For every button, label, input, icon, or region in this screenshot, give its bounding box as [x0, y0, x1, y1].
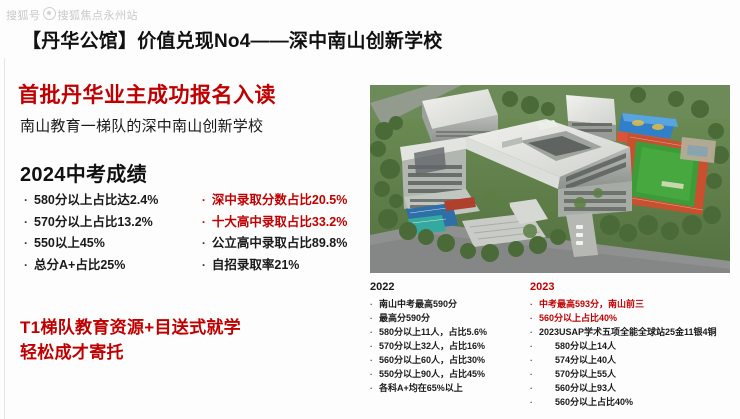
left-content-column: 首批丹华业主成功报名入读 南山教育一梯队的深中南山创新学校 2024中考成绩 ·… [18, 84, 363, 274]
bottom-slogan-line1: T1梯队教育资源+目送式就学 [20, 316, 241, 341]
bullet-dot-icon: · [530, 354, 539, 368]
list-item: · 2023USAP学术五项全能全球站25金11银4铜 [530, 326, 736, 340]
list-item: · 各科A+均在65%以上 [370, 382, 530, 396]
list-item: · 550分以上90人，占比45% [370, 368, 530, 382]
list-item: · 中考最高593分，南山前三 [530, 298, 736, 312]
bullet-dot-icon: · [530, 382, 539, 396]
list-item-label: 中考最高593分，南山前三 [539, 298, 644, 312]
list-item: · 570分以上32人，占比16% [370, 340, 530, 354]
list-item-label: 2023USAP学术五项全能全球站25金11银4铜 [539, 326, 717, 340]
list-item: · 570分以上55人 [530, 368, 736, 382]
red-headline: 首批丹华业主成功报名入读 [18, 84, 363, 108]
list-item-label: 550以上45% [34, 236, 105, 252]
year-stats-columns: 2022 · 南山中考最高590分 · 最高分590分 · 580分以上11人，… [370, 281, 736, 410]
bottom-slogan: T1梯队教育资源+目送式就学 轻松成才寄托 [20, 316, 241, 365]
bullet-dot-icon: · [24, 193, 34, 208]
score-bullet-columns: · 580分以上占比达2.4% · 570分以上占比13.2% · 550以上4… [18, 193, 363, 274]
list-item: · 580分以上14人 [530, 340, 736, 354]
bullet-dot-icon: · [370, 312, 379, 326]
list-item-label: 总分A+占比25% [34, 258, 125, 274]
list-item: · 公立高中录取占比89.8% [202, 236, 363, 252]
section-heading: 2024中考成绩 [20, 158, 363, 187]
campus-photo-illustration [370, 85, 730, 273]
list-item-label: 560分以上93人 [539, 382, 616, 396]
bullet-dot-icon: · [370, 340, 379, 354]
bullet-dot-icon: · [530, 298, 539, 312]
list-item: · 560分以上60人，占比30% [370, 354, 530, 368]
list-item-label: 560分以上60人，占比30% [379, 354, 485, 368]
list-item-label: 560分以上占比40% [539, 312, 617, 326]
sohu-logo-icon [43, 7, 56, 20]
list-item-label: 南山中考最高590分 [379, 298, 457, 312]
list-item: · 570分以上占比13.2% [24, 215, 196, 231]
list-item: · 南山中考最高590分 [370, 298, 530, 312]
list-item-label: 580分以上占比达2.4% [34, 193, 158, 209]
bullet-dot-icon: · [370, 354, 379, 368]
watermark-prefix: 搜狐号 [6, 10, 41, 22]
list-item-label: 自招录取率21% [212, 258, 300, 274]
bullet-dot-icon: · [370, 326, 379, 340]
list-item-label: 560分以上占比40% [539, 396, 633, 410]
bullet-dot-icon: · [202, 236, 212, 251]
list-item: · 560分以上占比40% [530, 312, 736, 326]
bullet-dot-icon: · [530, 312, 539, 326]
bullet-dot-icon: · [370, 382, 379, 396]
left-edge-rule [4, 58, 5, 419]
watermark: 搜狐号搜狐焦点永州站 [6, 7, 138, 23]
bullet-column-right: · 深中录取分数占比20.5% · 十大高中录取占比33.2% · 公立高中录取… [202, 193, 363, 274]
bullet-dot-icon: · [530, 326, 539, 340]
year-column-2023: 2023 · 中考最高593分，南山前三 · 560分以上占比40% · 202… [530, 281, 736, 410]
list-item-label: 570分以上32人，占比16% [379, 340, 485, 354]
list-item: · 560分以上93人 [530, 382, 736, 396]
list-item-label: 深中录取分数占比20.5% [212, 193, 347, 209]
bullet-dot-icon: · [370, 298, 379, 312]
bullet-dot-icon: · [202, 258, 212, 273]
bullet-dot-icon: · [530, 396, 539, 410]
list-item-label: 580分以上14人 [539, 340, 616, 354]
bullet-dot-icon: · [202, 215, 212, 230]
list-item-label: 最高分590分 [379, 312, 430, 326]
slide-page: 搜狐号搜狐焦点永州站 【丹华公馆】价值兑现No4——深中南山创新学校 首批丹华业… [0, 0, 740, 419]
list-item-label: 574分以上40人 [539, 354, 616, 368]
watermark-suffix: 搜狐焦点永州站 [58, 10, 139, 22]
bullet-dot-icon: · [530, 340, 539, 354]
bullet-dot-icon: · [24, 215, 34, 230]
list-item: · 十大高中录取占比33.2% [202, 215, 363, 231]
list-item: · 580分以上11人，占比5.6% [370, 326, 530, 340]
list-item-label: 580分以上11人，占比5.6% [379, 326, 487, 340]
bullet-dot-icon: · [370, 368, 379, 382]
list-item-label: 公立高中录取占比89.8% [212, 236, 347, 252]
year-title: 2022 [370, 281, 530, 293]
page-title: 【丹华公馆】价值兑现No4——深中南山创新学校 [22, 26, 443, 53]
list-item: · 深中录取分数占比20.5% [202, 193, 363, 209]
list-item: · 最高分590分 [370, 312, 530, 326]
list-item: · 550以上45% [24, 236, 196, 252]
list-item-label: 各科A+均在65%以上 [379, 382, 463, 396]
list-item-label: 十大高中录取占比33.2% [212, 215, 347, 231]
bullet-column-left: · 580分以上占比达2.4% · 570分以上占比13.2% · 550以上4… [18, 193, 196, 274]
list-item: · 自招录取率21% [202, 258, 363, 274]
bullet-dot-icon: · [24, 236, 34, 251]
bullet-dot-icon: · [202, 193, 212, 208]
bullet-dot-icon: · [24, 258, 34, 273]
year-title: 2023 [530, 281, 736, 293]
sub-headline: 南山教育一梯队的深中南山创新学校 [20, 115, 363, 136]
bottom-slogan-line2: 轻松成才寄托 [20, 341, 241, 366]
list-item: · 560分以上占比40% [530, 396, 736, 410]
list-item: · 总分A+占比25% [24, 258, 196, 274]
list-item-label: 570分以上占比13.2% [34, 215, 153, 231]
list-item: · 574分以上40人 [530, 354, 736, 368]
list-item-label: 550分以上90人，占比45% [379, 368, 485, 382]
bullet-dot-icon: · [530, 368, 539, 382]
list-item-label: 570分以上55人 [539, 368, 616, 382]
school-campus-aerial-photo [370, 85, 730, 273]
list-item: · 580分以上占比达2.4% [24, 193, 196, 209]
year-column-2022: 2022 · 南山中考最高590分 · 最高分590分 · 580分以上11人，… [370, 281, 530, 410]
